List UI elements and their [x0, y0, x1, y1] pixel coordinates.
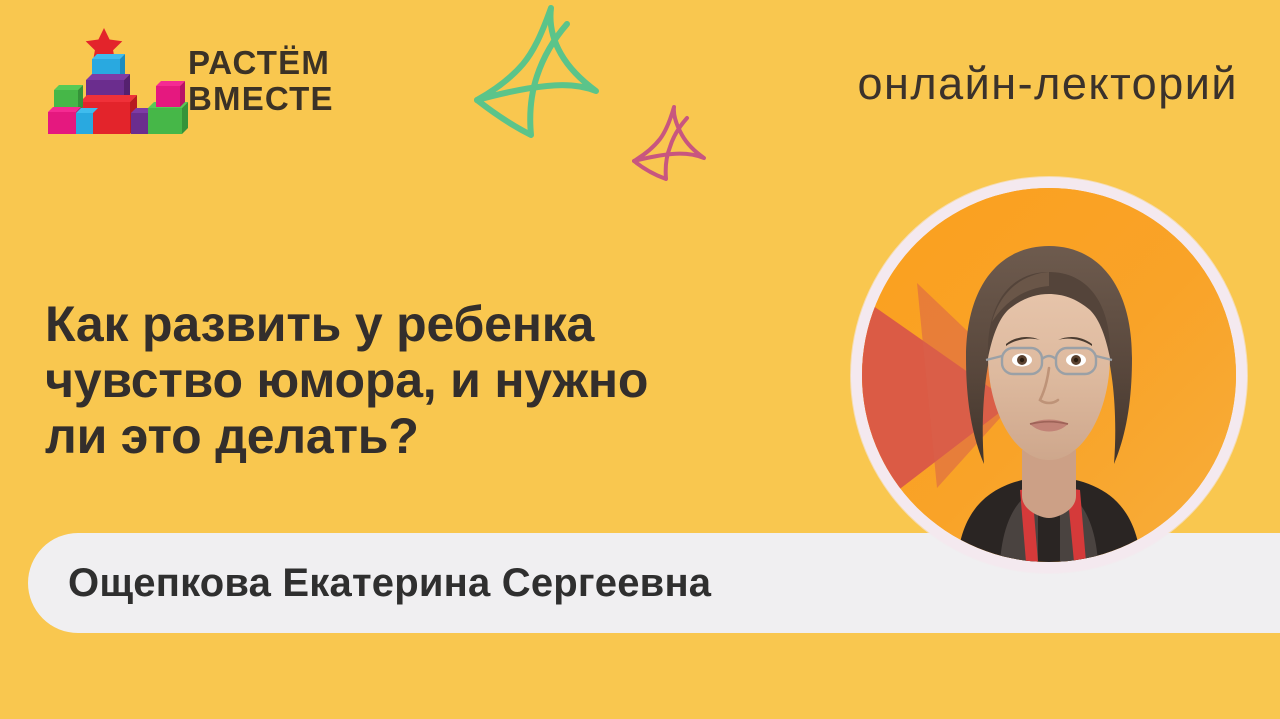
page-title-line-1: Как развить у ребенка: [45, 296, 835, 352]
header-label-online-lecture: онлайн-лекторий: [857, 58, 1238, 110]
logo-wordmark-line1: РАСТЁМ: [188, 45, 348, 81]
logo-wordmark-line2: ВМЕСТЕ: [188, 81, 348, 117]
avatar-photo: [862, 188, 1236, 562]
star-doodle-green-icon: [455, 2, 635, 142]
lecture-announcement-poster: РАСТЁМ ВМЕСТЕ онлайн-лекторий Как развит…: [0, 0, 1280, 719]
page-title: Как развить у ребенка чувство юмора, и н…: [45, 296, 835, 464]
star-doodle-pink-icon: [632, 103, 717, 181]
page-title-line-2: чувство юмора, и нужно: [45, 352, 835, 408]
speaker-name: Ощепкова Екатерина Сергеевна: [68, 533, 711, 633]
logo-wordmark: РАСТЁМ ВМЕСТЕ: [188, 45, 348, 125]
speaker-avatar: [851, 177, 1247, 573]
page-title-line-3: ли это делать?: [45, 408, 835, 464]
brand-logo[interactable]: РАСТЁМ ВМЕСТЕ: [48, 28, 348, 138]
logo-blocks-icon: [48, 28, 188, 138]
